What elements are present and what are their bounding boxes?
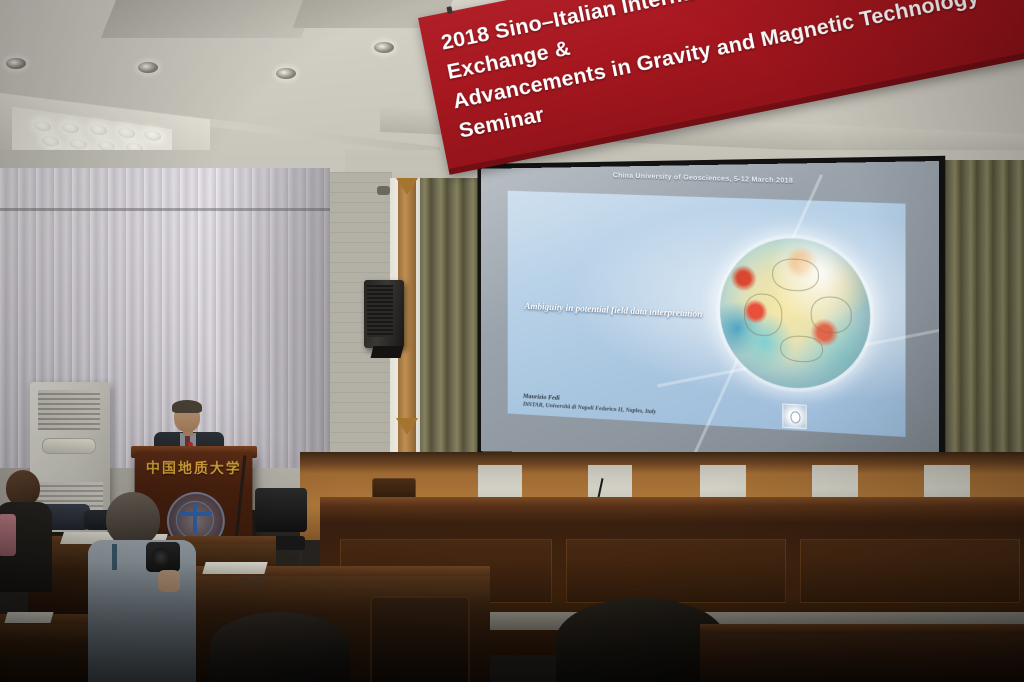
- audience-desk-top: [700, 624, 1024, 634]
- ceiling-lamp-icon: [90, 124, 107, 136]
- audience-desk: [700, 630, 1024, 682]
- wood-trim-arrow: [396, 178, 418, 195]
- head: [106, 492, 160, 546]
- earth-geoid-globe-icon: [720, 236, 870, 392]
- table-panel: [800, 539, 1020, 603]
- wall-speaker-icon: [364, 280, 404, 348]
- wall-camera-icon: [377, 186, 390, 195]
- podium-university-label: 中国地质大学: [135, 458, 253, 479]
- downlight-icon: [6, 58, 26, 69]
- foreground-chair[interactable]: [370, 596, 470, 682]
- head: [210, 612, 350, 682]
- ac-vent-icon: [38, 390, 100, 430]
- camera-lens-icon: [152, 548, 170, 566]
- ceiling-lamp-icon: [42, 135, 59, 147]
- wood-trim-arrow: [396, 418, 418, 435]
- presentation-slide: China University of Geosciences, 5-12 Ma…: [508, 191, 906, 437]
- ceiling-lamp-icon: [62, 122, 79, 134]
- scarf: [0, 514, 16, 556]
- downlight-icon: [276, 68, 296, 79]
- ceiling-lamp-icon: [144, 129, 161, 141]
- downlight-icon: [374, 42, 394, 53]
- ceiling-lamp-icon: [70, 138, 87, 150]
- eyeglasses-icon: [238, 578, 266, 585]
- slide-header: China University of Geosciences, 5-12 Ma…: [508, 169, 906, 188]
- speaker-grille: [367, 285, 393, 337]
- ac-badge: [42, 438, 96, 454]
- speaker-bracket: [371, 346, 404, 358]
- paper-sheet: [4, 612, 53, 623]
- ceiling-vent-icon: [101, 0, 320, 38]
- ceiling-lamp-icon: [118, 127, 135, 139]
- ceiling-lamp-icon: [34, 120, 51, 132]
- audience-person-camera: [88, 492, 196, 682]
- table-panel: [566, 539, 786, 603]
- hand: [158, 570, 180, 592]
- audience-person-front-left: [210, 612, 350, 682]
- head: [6, 470, 40, 506]
- projection-screen: China University of Geosciences, 5-12 Ma…: [481, 161, 939, 459]
- downlight-icon: [138, 62, 158, 73]
- lecture-hall-photo: China University of Geosciences, 5-12 Ma…: [0, 0, 1024, 682]
- lanyard: [112, 544, 117, 570]
- audience-person-left: [0, 470, 52, 590]
- paper-sheet: [202, 562, 267, 574]
- slide-logo-icon: [782, 403, 806, 429]
